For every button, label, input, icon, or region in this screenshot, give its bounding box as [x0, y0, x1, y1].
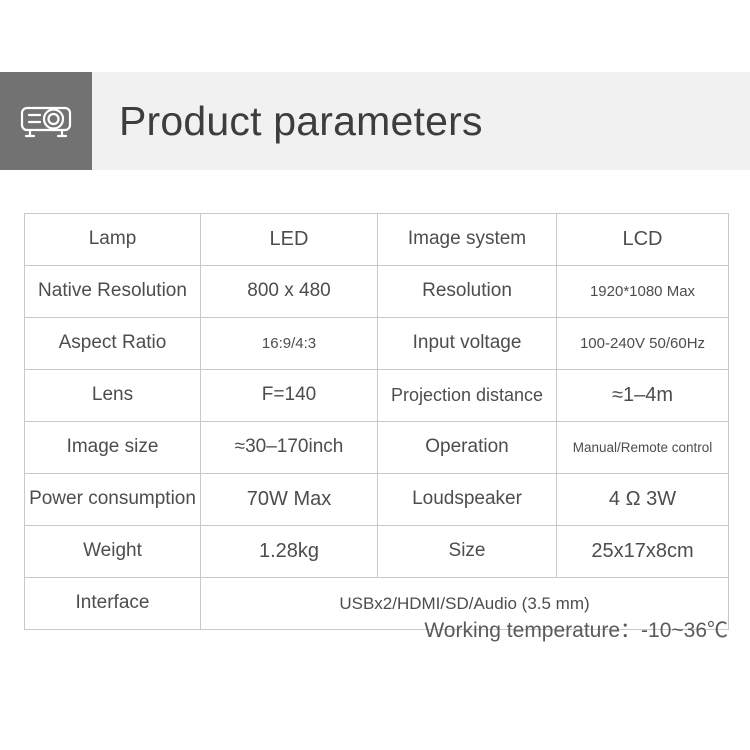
cell-value-aspect-ratio: 16:9/4:3	[201, 318, 378, 370]
cell-value-power-consumption: 70W Max	[201, 474, 378, 526]
cell-label-operation: Operation	[378, 422, 557, 474]
cell-label-image-system: Image system	[378, 214, 557, 266]
cell-value-size: 25x17x8cm	[557, 526, 729, 578]
table-row: Weight 1.28kg Size 25x17x8cm	[25, 526, 729, 578]
projector-icon-tile	[0, 72, 92, 170]
cell-value-input-voltage: 100-240V 50/60Hz	[557, 318, 729, 370]
cell-value-resolution: 1920*1080 Max	[557, 266, 729, 318]
cell-label-image-size: Image size	[25, 422, 201, 474]
cell-label-projection-distance: Projection distance	[378, 370, 557, 422]
cell-value-projection-distance: ≈1–4m	[557, 370, 729, 422]
cell-label-power-consumption: Power consumption	[25, 474, 201, 526]
table-row: Lens F=140 Projection distance ≈1–4m	[25, 370, 729, 422]
cell-label-input-voltage: Input voltage	[378, 318, 557, 370]
product-parameters-table: Lamp LED Image system LCD Native Resolut…	[24, 213, 729, 630]
cell-value-loudspeaker: 4 Ω 3W	[557, 474, 729, 526]
cell-label-weight: Weight	[25, 526, 201, 578]
projector-icon	[20, 102, 72, 140]
cell-label-size: Size	[378, 526, 557, 578]
table-row: Power consumption 70W Max Loudspeaker 4 …	[25, 474, 729, 526]
page-title: Product parameters	[92, 72, 750, 170]
cell-value-lamp: LED	[201, 214, 378, 266]
cell-value-native-resolution: 800 x 480	[201, 266, 378, 318]
working-temperature-note: Working temperature：-10~36℃	[24, 614, 730, 644]
cell-value-weight: 1.28kg	[201, 526, 378, 578]
table-row: Image size ≈30–170inch Operation Manual/…	[25, 422, 729, 474]
cell-value-operation: Manual/Remote control	[557, 422, 729, 474]
cell-label-loudspeaker: Loudspeaker	[378, 474, 557, 526]
table-row: Native Resolution 800 x 480 Resolution 1…	[25, 266, 729, 318]
cell-value-lens: F=140	[201, 370, 378, 422]
table-row: Lamp LED Image system LCD	[25, 214, 729, 266]
cell-label-lamp: Lamp	[25, 214, 201, 266]
cell-label-resolution: Resolution	[378, 266, 557, 318]
table-row: Aspect Ratio 16:9/4:3 Input voltage 100-…	[25, 318, 729, 370]
cell-label-native-resolution: Native Resolution	[25, 266, 201, 318]
cell-value-image-system: LCD	[557, 214, 729, 266]
cell-label-lens: Lens	[25, 370, 201, 422]
cell-label-aspect-ratio: Aspect Ratio	[25, 318, 201, 370]
cell-value-image-size: ≈30–170inch	[201, 422, 378, 474]
page-header: Product parameters	[0, 72, 750, 170]
